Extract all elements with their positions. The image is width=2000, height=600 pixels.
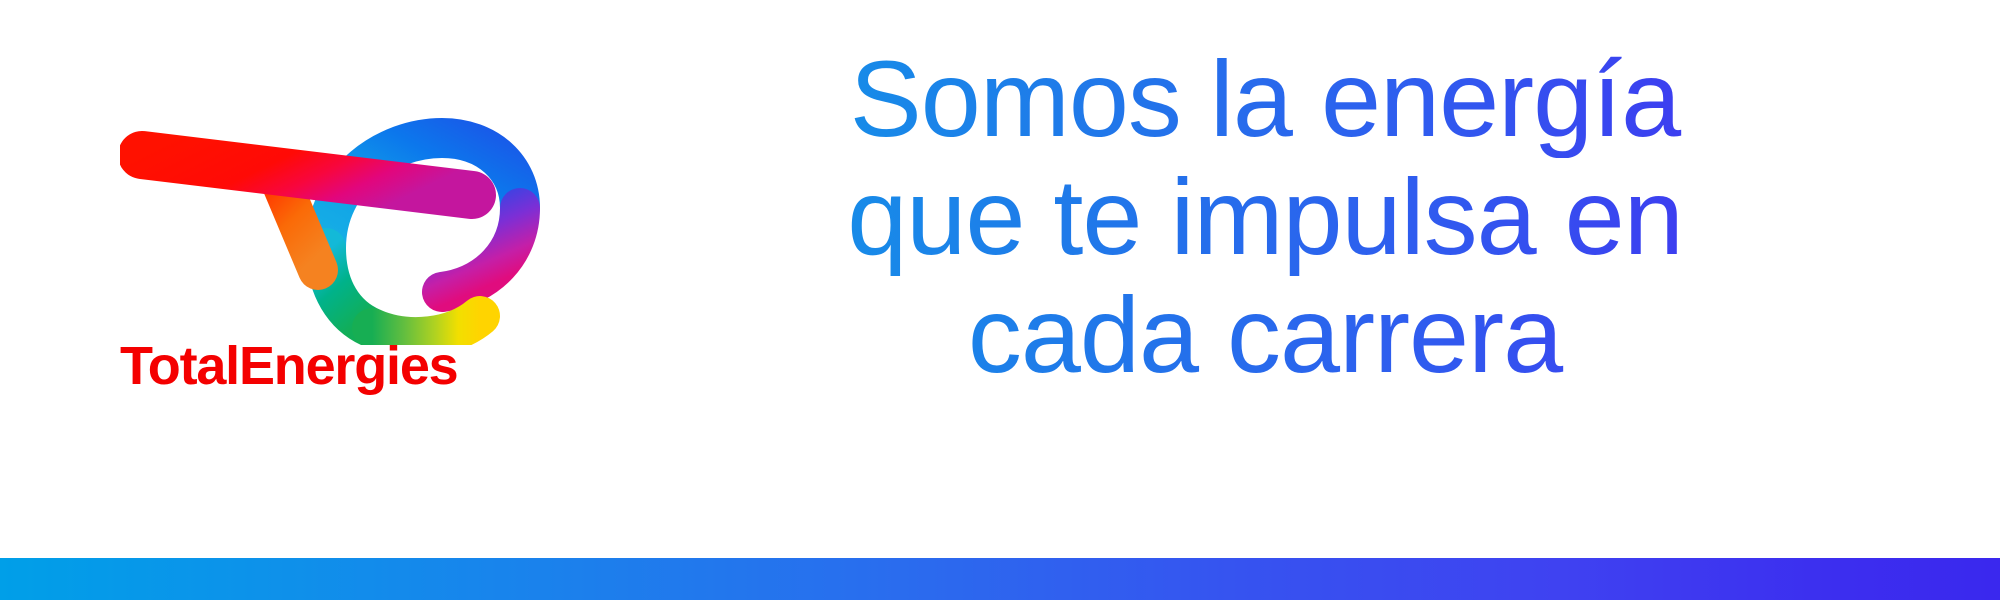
totalenergies-rainbow-e-icon bbox=[120, 100, 540, 345]
banner: TotalEnergies Somos la energía que te im… bbox=[0, 0, 2000, 600]
brand-wordmark: TotalEnergies bbox=[120, 338, 540, 400]
gradient-accent-bar bbox=[0, 558, 2000, 600]
headline: Somos la energía que te impulsa en cada … bbox=[620, 40, 1910, 394]
headline-line-1: Somos la energía bbox=[620, 40, 1910, 158]
brand-logo[interactable]: TotalEnergies bbox=[120, 100, 540, 410]
brand-wordmark-text: TotalEnergies bbox=[120, 336, 457, 396]
headline-line-2: que te impulsa en bbox=[620, 158, 1910, 276]
headline-line-3: cada carrera bbox=[620, 276, 1910, 394]
